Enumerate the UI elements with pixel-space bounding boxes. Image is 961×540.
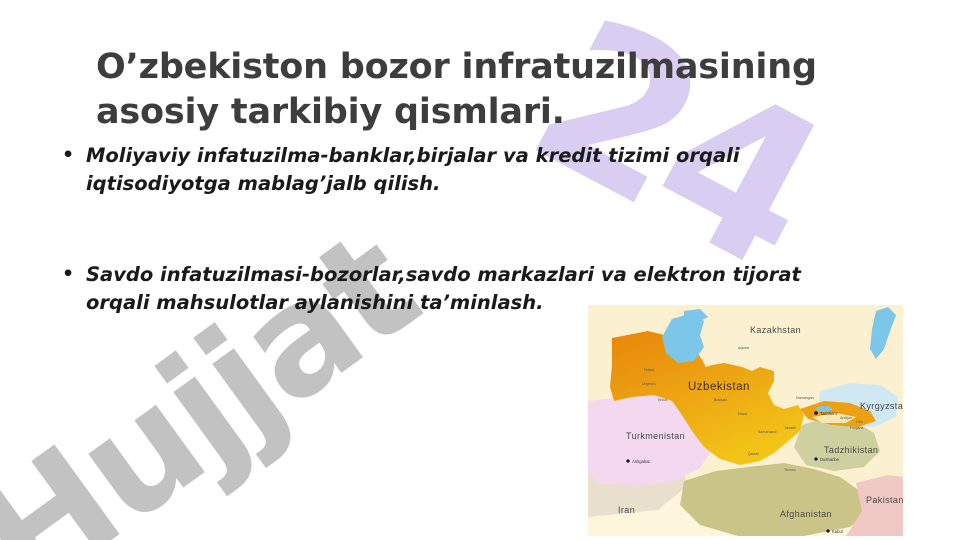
map-label-city: Aqtobe [738, 346, 749, 350]
map-label-city: Termez [784, 468, 796, 472]
slide-title: O’zbekiston bozor infratuzilmasining aso… [96, 45, 926, 135]
map-label-tajikistan: Tadzhikistan [824, 445, 878, 455]
map-label-city: Namangan [796, 396, 814, 400]
map-label-kyrgyzstan: Kyrgyzstan [860, 401, 903, 411]
map-label-iran: Iran [618, 505, 635, 515]
capital-marker-kabul [826, 529, 829, 532]
capital-marker-ashgabat [626, 459, 629, 462]
map-label-city: Nukus [644, 368, 654, 372]
bullet-marker-icon: • [62, 261, 86, 288]
list-item: • Moliyaviy infatuzilma-banklar,birjalar… [62, 142, 862, 197]
map-label-city: Khiva [658, 398, 667, 402]
map-label-city: Andijan [840, 416, 852, 420]
map-label-city: Samarkand [758, 430, 776, 434]
map-label-kabul: Kabul [832, 529, 843, 534]
map-label-city: Jizzakh [784, 426, 796, 430]
map-label-city: Bukhara [714, 398, 727, 402]
map-label-tashkent: Tashkent [820, 411, 838, 416]
map-label-city: Navoi [738, 412, 747, 416]
presentation-slide: 24 Hujjat O’zbekiston bozor infratuzilma… [0, 0, 961, 540]
map-image: Kazakhstan Uzbekistan Turkmenistan Tadzh… [588, 305, 903, 536]
map-label-city: Qarshi [748, 452, 759, 456]
map-label-uzbekistan: Uzbekistan [688, 381, 750, 393]
map-label-city: Urgench [642, 382, 656, 386]
map-label-city: Fergana [850, 426, 863, 430]
map-label-afghanistan: Afghanistan [780, 509, 832, 519]
capital-marker-dushanbe [814, 457, 817, 460]
map-label-turkmenistan: Turkmenistan [626, 431, 685, 441]
map-label-city: Osh [856, 420, 863, 424]
bullet-list: • Moliyaviy infatuzilma-banklar,birjalar… [62, 142, 862, 317]
capital-marker-tashkent [814, 411, 818, 415]
map-label-pakistan: Pakistan [866, 495, 903, 505]
map-label-kazakhstan: Kazakhstan [750, 325, 801, 335]
map-label-dushanbe: Dushanbe [820, 457, 840, 462]
bullet-text: Moliyaviy infatuzilma-banklar,birjalar v… [86, 142, 862, 197]
map-label-ashgabat: Ashgabat [632, 459, 651, 464]
map-graphic: Kazakhstan Uzbekistan Turkmenistan Tadzh… [588, 305, 903, 536]
bullet-marker-icon: • [62, 142, 86, 169]
